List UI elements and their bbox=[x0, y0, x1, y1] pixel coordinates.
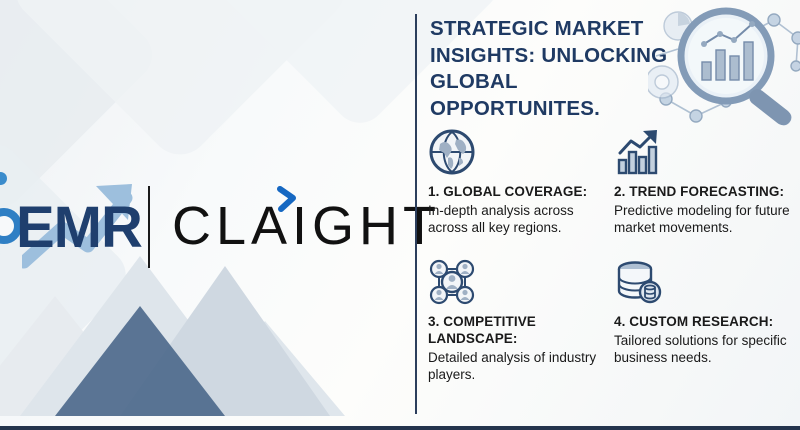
feature-description: In-depth analysis across across all key … bbox=[428, 202, 614, 237]
feature-title: 3. COMPETITIVE LANDSCAPE: bbox=[428, 314, 614, 348]
feature-item-custom-research: 4. CUSTOM RESEARCH: Tailored solutions f… bbox=[614, 258, 800, 366]
logo-lockup: EMR CLAIGHT bbox=[0, 170, 400, 282]
content-panel: Strategic Market Insights: Unlocking Glo… bbox=[428, 0, 800, 430]
magnifying-glass-bar-chart-icon bbox=[648, 0, 800, 134]
background-chevron-shape bbox=[3, 0, 357, 167]
feature-item-competitive-landscape: 3. COMPETITIVE LANDSCAPE: Detailed analy… bbox=[428, 258, 614, 383]
brand-divider bbox=[148, 186, 150, 268]
feature-title: 2. TREND FORECASTING: bbox=[614, 184, 800, 201]
background-mountain-shape bbox=[120, 266, 330, 416]
feature-description: Tailored solutions for specific business… bbox=[614, 332, 800, 367]
claight-wordmark: CLAIGHT bbox=[172, 195, 441, 257]
feature-description: Detailed analysis of industry players. bbox=[428, 349, 614, 384]
database-research-icon bbox=[614, 258, 662, 306]
trending-bar-chart-icon bbox=[614, 128, 662, 176]
chevron-right-icon bbox=[276, 186, 298, 212]
background-mountain-shape bbox=[55, 306, 225, 416]
infographic-banner: EMR CLAIGHT Strategic Market Insights: U… bbox=[0, 0, 800, 430]
feature-grid: 1. GLOBAL COVERAGE: In-depth analysis ac… bbox=[428, 128, 800, 418]
feature-item-trend-forecasting: 2. TREND FORECASTING: Predictive modelin… bbox=[614, 128, 800, 236]
feature-title: 4. CUSTOM RESEARCH: bbox=[614, 314, 800, 331]
section-divider bbox=[415, 14, 417, 414]
emr-wordmark: EMR bbox=[16, 194, 142, 261]
globe-icon bbox=[428, 128, 476, 176]
feature-title: 1. GLOBAL COVERAGE: bbox=[428, 184, 614, 201]
background-mountain-shape bbox=[185, 321, 345, 416]
feature-item-global-coverage: 1. GLOBAL COVERAGE: In-depth analysis ac… bbox=[428, 128, 614, 236]
feature-description: Predictive modeling for future market mo… bbox=[614, 202, 800, 237]
background-mountain-shape bbox=[0, 296, 150, 416]
people-network-icon bbox=[428, 258, 476, 306]
